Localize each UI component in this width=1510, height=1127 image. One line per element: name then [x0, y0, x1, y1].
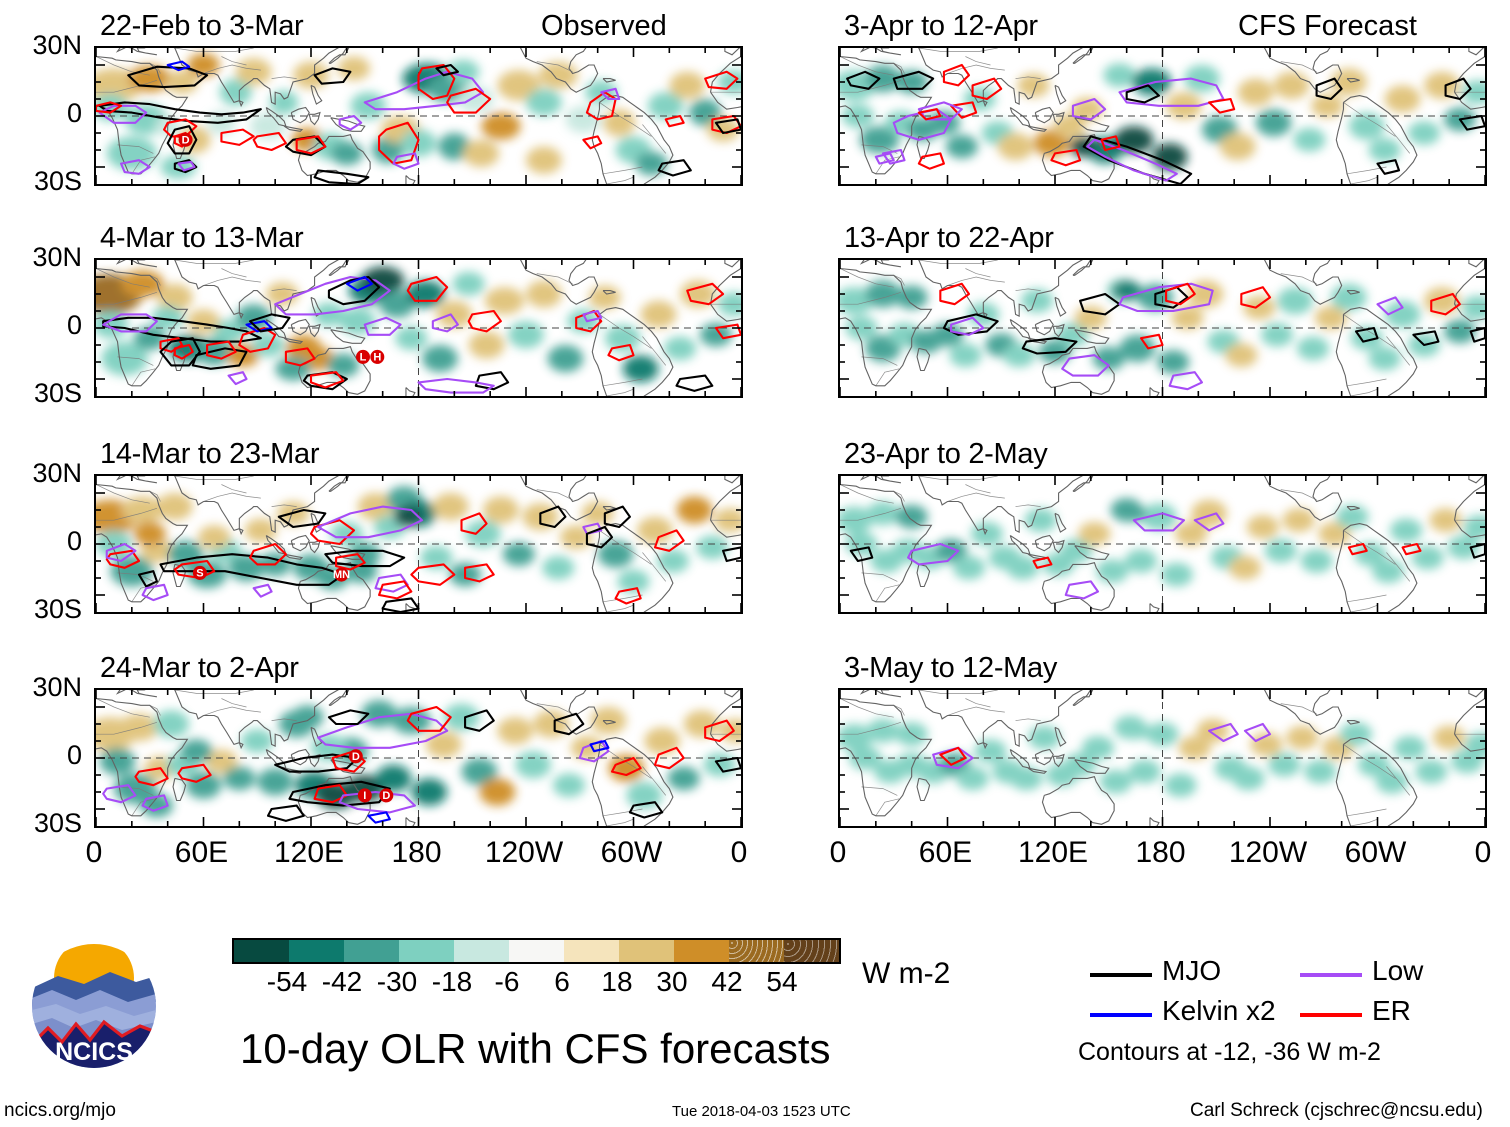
svg-text:I: I: [363, 790, 366, 802]
svg-text:MN: MN: [333, 569, 350, 581]
colorbar-tick-42: 42: [697, 966, 757, 998]
colorbar-bin-8: [674, 940, 729, 962]
y-tick-0-obs1: 0: [0, 98, 82, 129]
panel-title-obs1: 22-Feb to 3-Mar: [100, 10, 303, 43]
svg-text:L: L: [360, 352, 367, 364]
legend-label-low: Low: [1372, 955, 1423, 987]
x-tick-0-col2: 0: [1438, 836, 1510, 870]
y-tick-30N-obs4: 30N: [0, 672, 82, 703]
map-panel-obs1: D: [94, 46, 743, 186]
map-panel-fcst3: [838, 474, 1487, 614]
svg-text:D: D: [182, 134, 190, 146]
legend-swatch-er: [1300, 1013, 1362, 1017]
x-tick-60W-col1: 60W: [587, 836, 677, 870]
legend-label-mjo: MJO: [1162, 955, 1221, 987]
y-tick-30S-obs3: 30S: [0, 594, 82, 625]
colorbar-units-label: W m-2: [862, 957, 950, 991]
x-tick-0-col2: 0: [793, 836, 883, 870]
page-title: 10-day OLR with CFS forecasts: [240, 1025, 831, 1073]
x-tick-120E-col2: 120E: [1008, 836, 1098, 870]
x-tick-60E-col2: 60E: [901, 836, 991, 870]
colorbar-tick--54: -54: [257, 966, 317, 998]
x-tick-120E-col1: 120E: [264, 836, 354, 870]
colorbar: -54-42-30-18-6618304254: [232, 938, 841, 964]
x-tick-180-col2: 180: [1116, 836, 1206, 870]
legend-label-er: ER: [1372, 995, 1411, 1027]
colorbar-bin-1: [289, 940, 344, 962]
panel-title-fcst2: 13-Apr to 22-Apr: [844, 222, 1054, 255]
colorbar-bin-5: [509, 940, 564, 962]
colorbar-bin-9: [729, 940, 784, 962]
colorbar-tick--30: -30: [367, 966, 427, 998]
panel-title-fcst4: 3-May to 12-May: [844, 652, 1057, 685]
x-tick-60W-col2: 60W: [1331, 836, 1421, 870]
panel-title-fcst3: 23-Apr to 2-May: [844, 438, 1047, 471]
svg-text:D: D: [352, 751, 360, 763]
map-panel-obs3: SMN: [94, 474, 743, 614]
y-tick-30N-obs2: 30N: [0, 242, 82, 273]
colorbar-tick-54: 54: [752, 966, 812, 998]
map-panel-obs4: DID: [94, 688, 743, 828]
colorbar-bin-7: [619, 940, 674, 962]
y-tick-30N-obs1: 30N: [0, 30, 82, 61]
colorbar-tick--42: -42: [312, 966, 372, 998]
panel-title-obs4: 24-Mar to 2-Apr: [100, 652, 299, 685]
x-tick-180-col1: 180: [372, 836, 462, 870]
colorbar-swatches: [232, 938, 841, 964]
colorbar-tick--6: -6: [477, 966, 537, 998]
y-tick-0-obs2: 0: [0, 310, 82, 341]
legend-swatch-kelvin-x2: [1090, 1013, 1152, 1017]
svg-text:S: S: [196, 568, 203, 580]
map-panel-fcst1: [838, 46, 1487, 186]
colorbar-tick-18: 18: [587, 966, 647, 998]
colorbar-bin-10: [784, 940, 839, 962]
legend-swatch-mjo: [1090, 973, 1152, 977]
y-tick-0-obs3: 0: [0, 526, 82, 557]
legend-label-kelvin-x2: Kelvin x2: [1162, 995, 1276, 1027]
logo-wordmark: NCICS: [55, 1038, 133, 1066]
x-tick-0-col1: 0: [694, 836, 784, 870]
x-tick-120W-col1: 120W: [479, 836, 569, 870]
column-header-forecast: CFS Forecast: [1238, 10, 1417, 43]
footer-site-link[interactable]: ncics.org/mjo: [4, 1100, 116, 1122]
panel-title-obs3: 14-Mar to 23-Mar: [100, 438, 319, 471]
panel-title-obs2: 4-Mar to 13-Mar: [100, 222, 303, 255]
footer-author-contact: Carl Schreck (cjschrec@ncsu.edu): [1190, 1100, 1483, 1122]
map-panel-obs2: LH: [94, 258, 743, 398]
svg-text:D: D: [382, 790, 390, 802]
colorbar-tick-6: 6: [532, 966, 592, 998]
y-tick-0-obs4: 0: [0, 740, 82, 771]
map-panel-fcst2: [838, 258, 1487, 398]
column-header-observed: Observed: [541, 10, 667, 43]
y-tick-30S-obs2: 30S: [0, 378, 82, 409]
y-tick-30S-obs4: 30S: [0, 808, 82, 839]
footer-timestamp: Tue 2018-04-03 1523 UTC: [672, 1103, 851, 1120]
y-tick-30S-obs1: 30S: [0, 166, 82, 197]
legend-swatch-low: [1300, 973, 1362, 977]
colorbar-bin-6: [564, 940, 619, 962]
y-tick-30N-obs3: 30N: [0, 458, 82, 489]
panel-title-fcst1: 3-Apr to 12-Apr: [844, 10, 1038, 43]
x-tick-0-col1: 0: [49, 836, 139, 870]
legend-note: Contours at -12, -36 W m-2: [1078, 1038, 1381, 1067]
x-tick-60E-col1: 60E: [157, 836, 247, 870]
svg-text:H: H: [373, 352, 381, 364]
colorbar-bin-3: [399, 940, 454, 962]
colorbar-bin-2: [344, 940, 399, 962]
map-panel-fcst4: [838, 688, 1487, 828]
colorbar-bin-4: [454, 940, 509, 962]
colorbar-tick-30: 30: [642, 966, 702, 998]
colorbar-tick--18: -18: [422, 966, 482, 998]
ncics-logo[interactable]: NCICS: [18, 932, 170, 1084]
x-tick-120W-col2: 120W: [1223, 836, 1313, 870]
colorbar-bin-0: [234, 940, 289, 962]
